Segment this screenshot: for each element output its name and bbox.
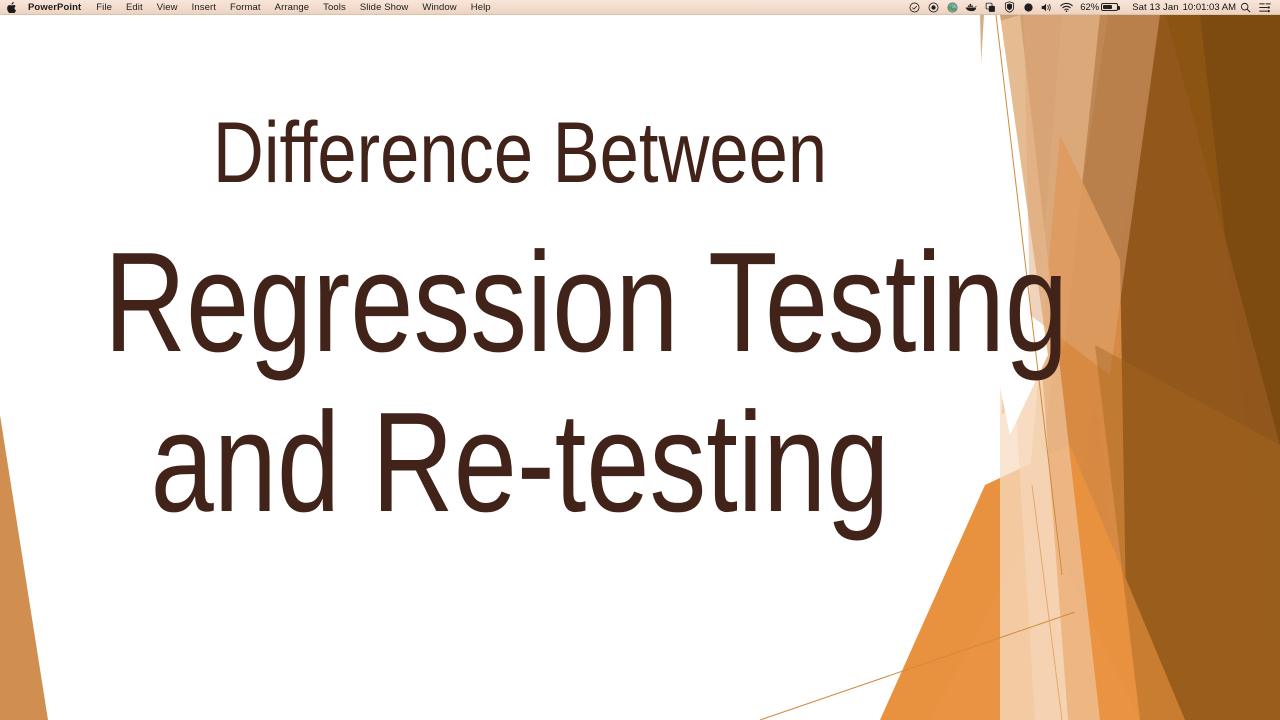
docker-whale-icon[interactable] — [965, 1, 978, 14]
menu-item-arrange[interactable]: Arrange — [268, 0, 317, 15]
battery-percent-label: 62% — [1080, 0, 1099, 15]
menu-item-edit[interactable]: Edit — [119, 0, 150, 15]
control-center-icon[interactable] — [1258, 1, 1271, 14]
menu-bar-time[interactable]: 10:01:03 AM — [1183, 0, 1236, 15]
menu-bar-date[interactable]: Sat 13 Jan — [1132, 0, 1178, 15]
shield-icon[interactable] — [1003, 1, 1016, 14]
filled-circle-icon[interactable] — [1022, 1, 1035, 14]
title-line-2: Regression Testing — [104, 196, 936, 374]
menu-bar-status-group: 62% Sat 13 Jan 10:01:03 AM — [905, 0, 1280, 15]
record-circle-icon[interactable] — [927, 1, 940, 14]
search-icon[interactable] — [1239, 1, 1252, 14]
volume-icon[interactable] — [1041, 1, 1054, 14]
globe-icon[interactable] — [946, 1, 959, 14]
checkmark-circle-icon[interactable] — [908, 1, 921, 14]
apple-logo-icon[interactable] — [7, 2, 16, 13]
title-line-3: and Re-testing — [104, 374, 936, 534]
title-line-1: Difference Between — [94, 15, 947, 196]
battery-icon[interactable] — [1101, 3, 1118, 11]
menu-item-slide-show[interactable]: Slide Show — [353, 0, 416, 15]
duplicate-window-icon[interactable] — [984, 1, 997, 14]
slide-title-block[interactable]: Difference Between Regression Testing an… — [0, 15, 1040, 534]
menu-item-powerpoint[interactable]: PowerPoint — [26, 0, 89, 15]
menu-bar-left-group: PowerPoint File Edit View Insert Format … — [0, 0, 498, 15]
menu-item-tools[interactable]: Tools — [316, 0, 353, 15]
menu-item-format[interactable]: Format — [223, 0, 268, 15]
menu-item-insert[interactable]: Insert — [185, 0, 223, 15]
menu-item-view[interactable]: View — [150, 0, 185, 15]
powerpoint-slide: Difference Between Regression Testing an… — [0, 15, 1280, 720]
macos-menu-bar: PowerPoint File Edit View Insert Format … — [0, 0, 1280, 15]
menu-item-file[interactable]: File — [89, 0, 119, 15]
menu-item-help[interactable]: Help — [464, 0, 498, 15]
menu-item-window[interactable]: Window — [415, 0, 463, 15]
wifi-icon[interactable] — [1060, 1, 1073, 14]
